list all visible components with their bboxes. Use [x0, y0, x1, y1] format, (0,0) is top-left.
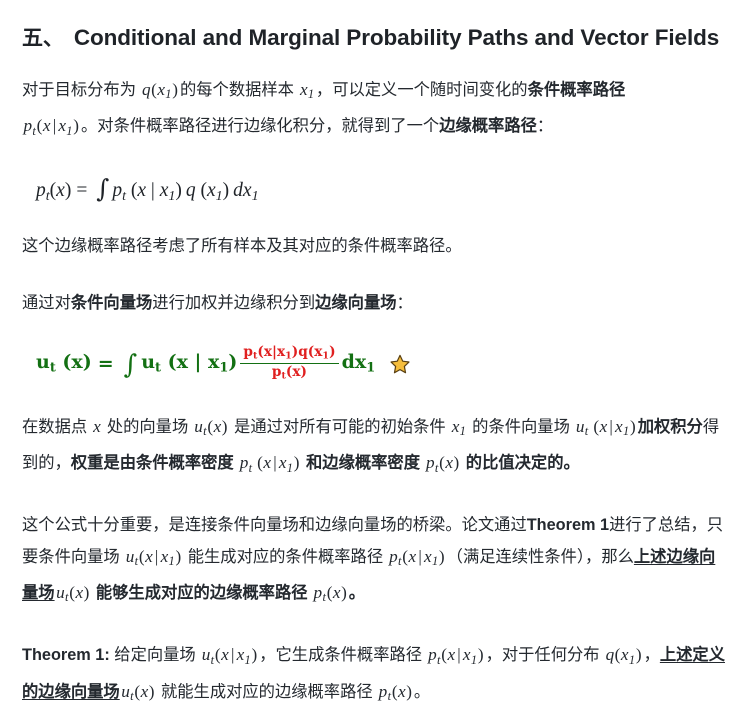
math-x1: x1 [298, 80, 315, 99]
p1-seg-5: ： [537, 117, 553, 135]
math-ut-x-given-x1-b: ut(x|x1) [124, 547, 183, 566]
paragraph-1: 对于目标分布为 q(x1)的每个数据样本 x1，可以定义一个随时间变化的条件概率… [22, 74, 726, 147]
p1-seg-4: 。对条件概率路径进行边缘化积分，就得到了一个 [81, 117, 439, 135]
eq2-ratio-fraction: pt(x|x1)q(x1) pt(x) [240, 345, 338, 383]
math-ut-x-b: ut(x) [55, 583, 92, 602]
p5-seg-1: 这个公式十分重要，是连接条件向量场和边缘向量场的桥梁。论文通过 [22, 516, 527, 534]
fraction-numerator: pt(x|x1)q(x1) [240, 345, 338, 363]
math-q-x1-c: q(x1) [604, 645, 643, 664]
math-pt-x-c: pt(x) [377, 682, 414, 701]
p3-bold-marginal-vector-field: 边缘向量场 [315, 294, 396, 312]
math-pt-x-given-x1-2: pt (x|x1) [238, 453, 301, 472]
eq2-conditional-field: ut (x | x1) [141, 351, 237, 376]
p4-seg-4: 的条件向量场 [468, 418, 575, 436]
p1-seg-2: 的每个数据样本 [180, 81, 299, 99]
section-title-text: Conditional and Marginal Probability Pat… [74, 25, 719, 51]
p6-seg-4: ， [644, 646, 660, 664]
integral-icon: ∫ [120, 350, 142, 380]
p4-bold-weighted-integral: 加权积分 [638, 418, 703, 436]
p3-seg-1: 通过对 [22, 294, 71, 312]
p1-bold-conditional-path: 条件概率路径 [528, 81, 626, 99]
paragraph-3: 通过对条件向量场进行加权并边缘积分到边缘向量场： [22, 288, 726, 319]
p5-seg-4: （满足连续性条件），那么 [447, 548, 634, 566]
p5-bold-generates: 能够生成对应的边缘概率路径 [91, 584, 312, 602]
paragraph-5: 这个公式十分重要，是连接条件向量场和边缘向量场的桥梁。论文通过Theorem 1… [22, 510, 726, 614]
paragraph-2: 这个边缘概率路径考虑了所有样本及其对应的条件概率路径。 [22, 231, 726, 262]
math-pt-x-given-x1: pt(x|x1) [22, 116, 81, 135]
math-ut-x: ut(x) [193, 417, 230, 436]
p5-bold-period: 。 [349, 584, 365, 602]
math-pt-x-given-x1-c: pt(x|x1) [427, 645, 486, 664]
eq2-differential: dx1 [342, 351, 376, 376]
star-icon [389, 354, 411, 375]
math-ut-x-c: ut(x) [120, 682, 157, 701]
math-x: x [92, 417, 103, 436]
integral-icon: ∫ [92, 174, 112, 203]
eq1-lhs: pt(x) [36, 180, 71, 201]
page-title: 五、 Conditional and Marginal Probability … [22, 22, 726, 52]
eq2-equals: = [92, 353, 120, 375]
p1-bold-marginal-path: 边缘概率路径 [439, 117, 537, 135]
p3-bold-conditional-vector-field: 条件向量场 [71, 294, 152, 312]
theorem-label: Theorem 1: [22, 646, 110, 664]
p4-bold-weight-desc-2: 和边缘概率密度 [302, 454, 425, 472]
math-q-x1: q(x1) [141, 80, 180, 99]
math-ut-x-given-x1: ut (x|x1) [574, 417, 637, 436]
p6-seg-2: ，它生成条件概率路径 [259, 646, 426, 664]
paragraph-6-theorem: Theorem 1: 给定向量场 ut(x|x1)，它生成条件概率路径 pt(x… [22, 639, 726, 712]
math-x1: x1 [450, 417, 467, 436]
fraction-denominator: pt(x) [269, 364, 310, 382]
p6-seg-1: 给定向量场 [110, 646, 200, 664]
p4-bold-weight-desc-3: 的比值决定的。 [461, 454, 580, 472]
equation-marginal-vector-field: ut (x) = ∫ ut (x | x1) pt(x|x1)q(x1) pt(… [22, 345, 726, 383]
p1-seg-1: 对于目标分布为 [22, 81, 141, 99]
math-pt-x: pt(x) [425, 453, 462, 472]
p1-seg-3: ，可以定义一个随时间变化的 [316, 81, 528, 99]
p4-seg-2: 处的向量场 [102, 418, 192, 436]
math-ut-x-given-x1-c: ut(x|x1) [200, 645, 259, 664]
p3-seg-2: 进行加权并边缘积分到 [152, 294, 315, 312]
p6-seg-3: ，对于任何分布 [486, 646, 605, 664]
document-page: 五、 Conditional and Marginal Probability … [0, 0, 748, 688]
p5-seg-3: 能生成对应的条件概率路径 [183, 548, 387, 566]
p6-seg-5: 就能生成对应的边缘概率路径 [156, 683, 377, 701]
p6-seg-6: 。 [414, 683, 430, 701]
eq1-equals: = [71, 180, 92, 201]
p4-seg-1: 在数据点 [22, 418, 92, 436]
math-pt-x-b: pt(x) [312, 583, 349, 602]
section-number: 五、 [22, 22, 64, 52]
p5-bold-theorem-ref: Theorem 1 [527, 516, 609, 534]
paragraph-4: 在数据点 x 处的向量场 ut(x) 是通过对所有可能的初始条件 x1 的条件向… [22, 411, 726, 484]
eq1-rhs: pt (x | x1)q (x1)dx1 [112, 180, 258, 201]
p4-seg-3: 是通过对所有可能的初始条件 [230, 418, 451, 436]
equation-marginal-probability-path: pt(x)=∫pt (x | x1)q (x1)dx1 [22, 173, 726, 205]
p3-seg-3: ： [397, 294, 413, 312]
eq2-lhs: ut (x) [36, 351, 92, 376]
p4-bold-weight-desc-1: 权重是由条件概率密度 [71, 454, 238, 472]
math-pt-x-given-x1-b: pt(x|x1) [388, 547, 447, 566]
